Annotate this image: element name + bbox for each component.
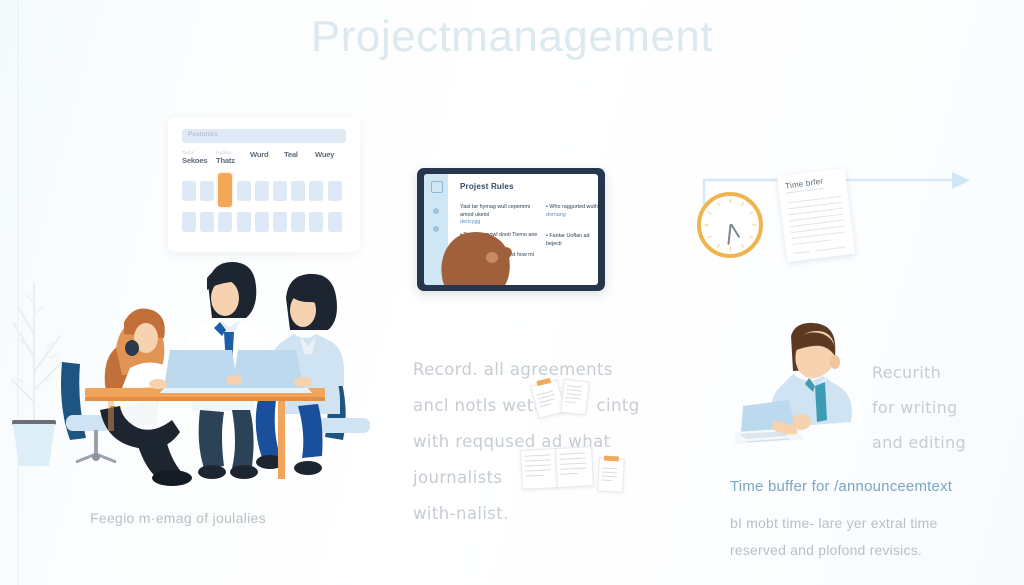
schedule-cell[interactable] xyxy=(309,181,323,201)
tablet-bullet-item: • Who raggurted wuth dornang xyxy=(546,204,598,219)
open-book-icon xyxy=(520,446,594,490)
schedule-cell[interactable] xyxy=(200,181,214,201)
tablet-screen-title: Projest Rules xyxy=(460,182,514,191)
schedule-cell[interactable] xyxy=(237,181,251,201)
document-footer-rule xyxy=(793,251,809,254)
schedule-cell[interactable] xyxy=(291,181,305,201)
schedule-cell[interactable] xyxy=(218,212,232,232)
schedule-cell[interactable] xyxy=(309,212,323,232)
team-meeting-illustration xyxy=(60,250,390,500)
dot-icon xyxy=(433,208,439,214)
time-buffer-document: Time brfer xyxy=(777,168,855,262)
schedule-cell[interactable] xyxy=(182,212,196,232)
tablet-screen: Projest Rules Yast tar hymag wull cepemm… xyxy=(424,174,598,285)
fingertip xyxy=(486,252,498,263)
tablet-bullet-item: Yast tar hymag wull cepemmi amod ukeiol … xyxy=(460,204,538,227)
note-icon xyxy=(560,379,589,416)
schedule-header-label: Pestonics xyxy=(188,131,218,138)
schedule-cell[interactable] xyxy=(237,212,251,232)
dot-icon xyxy=(433,226,439,232)
schedule-cell[interactable] xyxy=(255,181,269,201)
tablet-bullet-link[interactable]: dericygg xyxy=(460,219,480,225)
schedule-card: Pestonics Tachn Sekoes huidinis Thatz Wu… xyxy=(168,117,360,252)
bullet-icon: • xyxy=(546,204,548,210)
man-typing-illustration xyxy=(735,320,867,452)
note-line: Recurith xyxy=(872,355,1002,390)
typing-note-block: Recurith for writing and editing xyxy=(872,355,1002,460)
schedule-cell[interactable] xyxy=(328,181,342,201)
tablet-bullet-text: Fantar Uoflan ad bejecti xyxy=(546,233,590,247)
page-title: Projectmanagement xyxy=(0,12,1024,62)
schedule-cell[interactable] xyxy=(273,212,287,232)
schedule-cell[interactable] xyxy=(182,181,196,201)
note-line: ancl notls wett xyxy=(413,396,541,415)
bullet-icon: • xyxy=(546,233,548,239)
schedule-cell-highlighted[interactable] xyxy=(218,173,232,207)
schedule-cell[interactable] xyxy=(255,212,269,232)
clock-icon xyxy=(431,181,443,193)
note-line: Record. all agreements xyxy=(413,352,643,388)
schedule-cell[interactable] xyxy=(273,181,287,201)
tablet-bullet-link[interactable]: dornang xyxy=(546,212,566,218)
note-icon xyxy=(597,457,625,492)
body-line: bI mobt time- lare yer extral time xyxy=(730,510,980,537)
schedule-cell[interactable] xyxy=(200,212,214,232)
clock-hour-hand xyxy=(730,223,740,238)
schedule-column-headers: Tachn Sekoes huidinis Thatz Wurd Teal Wu… xyxy=(182,150,346,172)
tablet-bullet-column-right: • Who raggurted wuth dornang • Fantar Uo… xyxy=(546,204,598,253)
note-line: cintg xyxy=(597,396,640,415)
note-line: and editing xyxy=(872,425,1002,460)
tablet-bullet-text: Yast tar hymag wull cepemmi amod ukeiol xyxy=(460,204,530,218)
tablet-bullet-item: • Fantar Uoflan ad bejecti xyxy=(546,233,598,248)
time-buffer-body: bI mobt time- lare yer extral time reser… xyxy=(730,510,980,564)
schedule-header-bar: Pestonics xyxy=(182,129,346,143)
schedule-column-name: Wuey xyxy=(315,150,355,159)
tablet-device[interactable]: Projest Rules Yast tar hymag wull cepemm… xyxy=(417,168,605,291)
body-line: reserved and plofond revisics. xyxy=(730,537,980,564)
time-buffer-heading: Time buffer for /announceemtext xyxy=(730,478,952,495)
note-line-composite: ancl notls wettcintg xyxy=(413,388,643,424)
schedule-cell[interactable] xyxy=(291,212,305,232)
note-line: for writing xyxy=(872,390,1002,425)
tablet-bullet-text: Who raggurted wuth xyxy=(549,204,598,210)
schedule-cell[interactable] xyxy=(328,212,342,232)
middle-note-block: Record. all agreements ancl notls wettci… xyxy=(413,352,643,532)
meeting-caption: Feegio m·emag of joulalies xyxy=(90,510,266,526)
note-line: with-nalist. xyxy=(413,496,643,532)
document-footer-rule xyxy=(815,246,845,251)
schedule-column: Wuey xyxy=(315,150,355,159)
clock-icon xyxy=(697,192,763,258)
poster-canvas: Projectmanagement Pestonics Tachn Sekoes… xyxy=(0,0,1024,585)
